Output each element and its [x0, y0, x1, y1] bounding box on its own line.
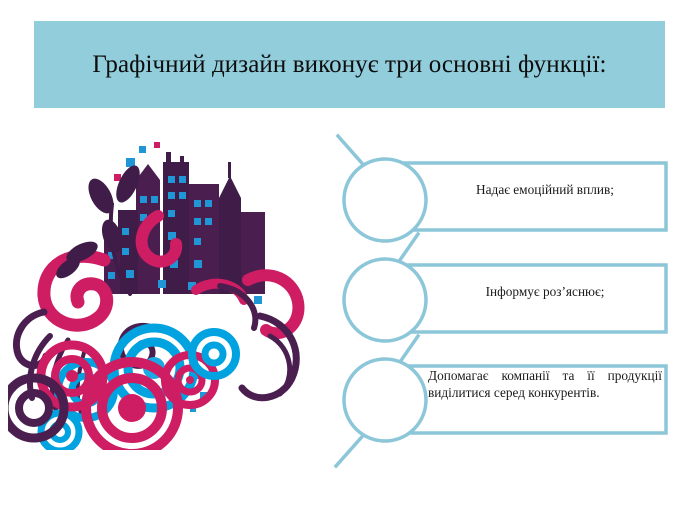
slide-canvas: Графічний дизайн виконує три основні фун…	[0, 0, 700, 525]
page-title: Графічний дизайн виконує три основні фун…	[92, 49, 606, 80]
connector-line-2-3	[400, 336, 418, 362]
title-banner: Графічний дизайн виконує три основні фун…	[34, 21, 665, 108]
diagram-row-label-2: Інформує роз’яснює;	[428, 274, 662, 310]
diagram-row-label-1: Надає емоційний вплив;	[428, 172, 662, 208]
bullet-circle-3	[344, 359, 426, 441]
process-diagram: Надає емоційний вплив; Інформує роз’ясню…	[324, 130, 670, 485]
artwork-svg	[8, 140, 324, 450]
bullet-circle-2	[344, 259, 426, 341]
diagram-row-label-3: Допомагає компанії та її продукції виділ…	[428, 368, 662, 401]
bullet-circle-1	[344, 159, 426, 241]
decorative-artwork	[8, 140, 324, 450]
